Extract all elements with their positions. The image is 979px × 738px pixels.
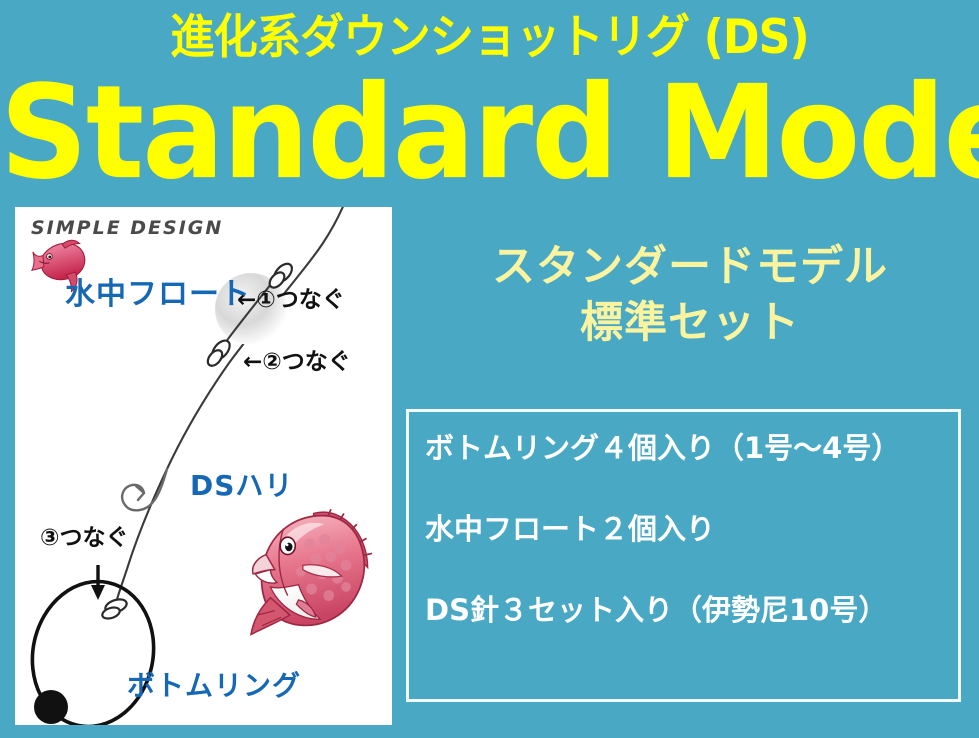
- rig-diagram-panel: SIMPLE DESIGN 水中フロート DSハリ ボトムリング ←①つなぐ ←…: [15, 207, 392, 725]
- label-bottom-ring: ボトムリング: [127, 672, 301, 700]
- label-water-float: 水中フロート: [65, 280, 251, 310]
- sinker-ball-icon: [34, 690, 68, 724]
- spec-item: ボトムリング４個入り（1号〜4号）: [425, 434, 942, 463]
- subtitle-block: スタンダードモデル 標準セット: [410, 240, 970, 352]
- note-step-2: ←②つなぐ: [243, 351, 351, 374]
- sea-bream-illustration: [251, 509, 372, 634]
- note-step-3: ③つなぐ: [40, 527, 128, 550]
- spec-item: DS針３セット入り（伊勢尼10号）: [425, 596, 942, 625]
- japanese-headline: 進化系ダウンショットリグ (DS): [29, 14, 949, 61]
- note-step-1: ←①つなぐ: [237, 289, 345, 312]
- label-ds-hook: DSハリ: [190, 472, 293, 500]
- product-poster: 進化系ダウンショットリグ (DS) Standard Model: [0, 0, 979, 738]
- simple-design-tagline: SIMPLE DESIGN: [31, 217, 223, 239]
- fish-hook-icon: [122, 469, 167, 510]
- page-title: Standard Model: [0, 68, 979, 197]
- subtitle-line-2: 標準セット: [410, 296, 970, 352]
- connector-knot-3-icon: [101, 597, 128, 621]
- spec-contents-box: ボトムリング４個入り（1号〜4号） 水中フロート２個入り DS針３セット入り（伊…: [406, 409, 961, 702]
- spec-item: 水中フロート２個入り: [425, 515, 942, 544]
- subtitle-line-1: スタンダードモデル: [410, 240, 970, 296]
